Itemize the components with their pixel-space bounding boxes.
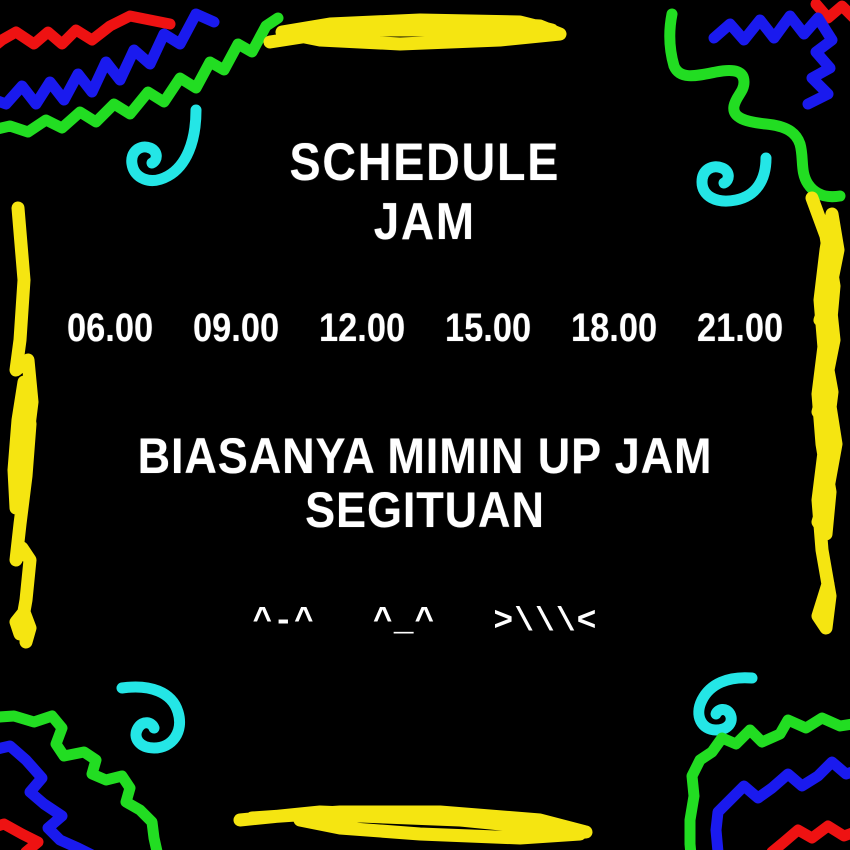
emoticon-row: ^-^ ^_^ >\\\< <box>253 603 598 640</box>
schedule-time: 09.00 <box>193 306 279 351</box>
message-block: BIASANYA MIMIN UP JAM SEGITUAN <box>0 429 850 537</box>
message-line-1: BIASANYA MIMIN UP JAM <box>43 429 808 483</box>
schedule-time: 12.00 <box>319 306 405 351</box>
schedule-time: 15.00 <box>445 306 531 351</box>
poster-canvas: SCHEDULE JAM 06.00 09.00 12.00 15.00 18.… <box>0 0 850 850</box>
kaomoji-shy-blush: >\\\< <box>493 603 597 640</box>
schedule-time: 06.00 <box>67 306 153 351</box>
page-subtitle: JAM <box>290 196 561 249</box>
schedule-time: 21.00 <box>697 306 783 351</box>
schedule-times-row: 06.00 09.00 12.00 15.00 18.00 21.00 <box>60 306 791 351</box>
title-block: SCHEDULE JAM <box>271 136 579 249</box>
kaomoji-happy-underscore: ^_^ <box>373 603 435 640</box>
page-title: SCHEDULE <box>290 136 561 190</box>
poster-content: SCHEDULE JAM 06.00 09.00 12.00 15.00 18.… <box>0 0 850 850</box>
message-line-2: SEGITUAN <box>43 483 808 537</box>
schedule-time: 18.00 <box>571 306 657 351</box>
kaomoji-happy-dash: ^-^ <box>253 603 315 640</box>
